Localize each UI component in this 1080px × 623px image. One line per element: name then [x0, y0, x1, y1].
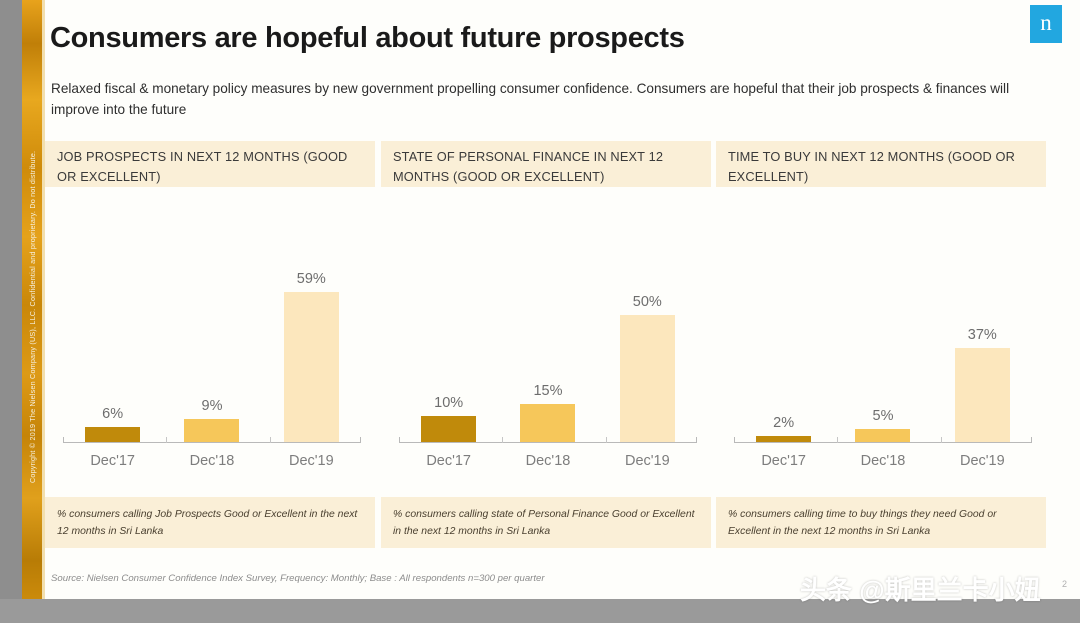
bar-value-label: 15%	[533, 383, 562, 399]
x-axis-labels: Dec'17 Dec'18 Dec'19	[63, 453, 361, 475]
chart-footnote: % consumers calling Job Prospects Good o…	[45, 497, 375, 548]
nielsen-logo-letter: n	[1040, 11, 1052, 34]
chart-banner-title: JOB PROSPECTS IN NEXT 12 MONTHS (GOOD OR…	[45, 141, 375, 187]
bar-dec19[interactable]	[284, 292, 339, 442]
copyright-vertical-text: Copyright © 2019 The Nielsen Company (US…	[22, 0, 42, 623]
x-axis-labels: Dec'17 Dec'18 Dec'19	[399, 453, 697, 475]
charts-row: JOB PROSPECTS IN NEXT 12 MONTHS (GOOD OR…	[45, 141, 1080, 551]
x-axis-line	[63, 442, 361, 443]
bar-group[interactable]: 2%	[734, 192, 833, 442]
plot-area: 2% 5% 37%	[726, 191, 1038, 487]
x-axis-line	[399, 442, 697, 443]
bars-container: 2% 5% 37%	[734, 192, 1032, 442]
bar-value-label: 5%	[873, 408, 894, 424]
bar-group[interactable]: 59%	[262, 192, 361, 442]
bar-value-label: 9%	[202, 398, 223, 414]
nielsen-logo: n	[1030, 5, 1062, 43]
chart-panel-personal-finance: STATE OF PERSONAL FINANCE IN NEXT 12 MON…	[381, 141, 711, 548]
slide-canvas: n Consumers are hopeful about future pro…	[45, 0, 1080, 600]
bar-group[interactable]: 5%	[833, 192, 932, 442]
x-label-dec19: Dec'19	[262, 453, 361, 475]
chart-banner-title: TIME TO BUY IN NEXT 12 MONTHS (GOOD OR E…	[716, 141, 1046, 187]
slide-root: Copyright © 2019 The Nielsen Company (US…	[0, 0, 1080, 623]
bar-group[interactable]: 37%	[933, 192, 1032, 442]
page-title: Consumers are hopeful about future prosp…	[50, 22, 950, 55]
page-number: 2	[1062, 579, 1067, 589]
bar-group[interactable]: 50%	[598, 192, 697, 442]
bar-value-label: 2%	[773, 415, 794, 431]
x-label-dec18: Dec'18	[833, 453, 932, 475]
bar-group[interactable]: 15%	[498, 192, 597, 442]
x-label-dec17: Dec'17	[63, 453, 162, 475]
bar-dec17[interactable]	[421, 416, 476, 442]
bars-container: 6% 9% 59%	[63, 192, 361, 442]
chart-banner-title: STATE OF PERSONAL FINANCE IN NEXT 12 MON…	[381, 141, 711, 187]
x-axis-tick	[606, 437, 607, 443]
bar-value-label: 37%	[968, 327, 997, 343]
chart-panel-job-prospects: JOB PROSPECTS IN NEXT 12 MONTHS (GOOD OR…	[45, 141, 375, 548]
bar-dec19[interactable]	[620, 315, 675, 442]
x-label-dec18: Dec'18	[498, 453, 597, 475]
bar-chart-job-prospects: 6% 9% 59%	[45, 187, 375, 497]
bar-value-label: 6%	[102, 406, 123, 422]
bar-dec18[interactable]	[520, 404, 575, 442]
bar-value-label: 10%	[434, 395, 463, 411]
bar-dec17[interactable]	[85, 427, 140, 442]
x-label-dec17: Dec'17	[734, 453, 833, 475]
chart-footnote: % consumers calling state of Personal Fi…	[381, 497, 711, 548]
bar-group[interactable]: 6%	[63, 192, 162, 442]
x-axis-labels: Dec'17 Dec'18 Dec'19	[734, 453, 1032, 475]
bar-chart-personal-finance: 10% 15% 50%	[381, 187, 711, 497]
left-gray-margin	[0, 0, 22, 623]
plot-area: 6% 9% 59%	[55, 191, 367, 487]
x-axis-line	[734, 442, 1032, 443]
x-axis-tick	[166, 437, 167, 443]
x-axis-tick	[941, 437, 942, 443]
bar-chart-time-to-buy: 2% 5% 37%	[716, 187, 1046, 497]
plot-area: 10% 15% 50%	[391, 191, 703, 487]
x-axis-tick	[502, 437, 503, 443]
x-axis-tick	[837, 437, 838, 443]
bar-dec18[interactable]	[855, 429, 910, 442]
bar-value-label: 59%	[297, 271, 326, 287]
page-subtitle: Relaxed fiscal & monetary policy measure…	[51, 78, 1036, 120]
x-label-dec17: Dec'17	[399, 453, 498, 475]
x-label-dec18: Dec'18	[162, 453, 261, 475]
x-label-dec19: Dec'19	[933, 453, 1032, 475]
bar-dec18[interactable]	[184, 419, 239, 442]
x-axis-tick	[270, 437, 271, 443]
chart-footnote: % consumers calling time to buy things t…	[716, 497, 1046, 548]
bar-value-label: 50%	[633, 294, 662, 310]
bar-group[interactable]: 9%	[162, 192, 261, 442]
bar-group[interactable]: 10%	[399, 192, 498, 442]
watermark-text: 头条 @斯里兰卡小妞	[800, 570, 1041, 607]
bars-container: 10% 15% 50%	[399, 192, 697, 442]
x-label-dec19: Dec'19	[598, 453, 697, 475]
chart-panel-time-to-buy: TIME TO BUY IN NEXT 12 MONTHS (GOOD OR E…	[716, 141, 1046, 548]
bar-dec19[interactable]	[955, 348, 1010, 442]
